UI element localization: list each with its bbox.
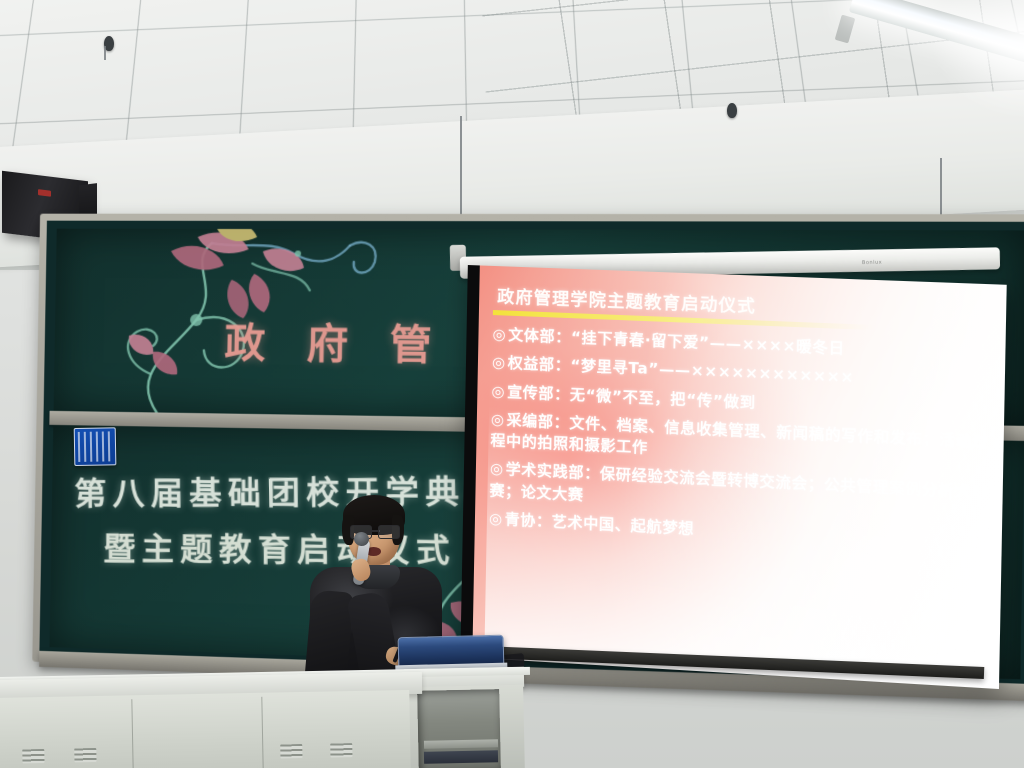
lectern-cabinet[interactable] (0, 690, 411, 768)
lecture-room-photo: 政 府 管 理 学 院 (0, 0, 1024, 768)
speaker-logo-icon (38, 189, 51, 197)
roller-brand-label: Bonlux (862, 260, 882, 266)
slide-bullet-text: 宣传部：无“微”不至，把“传”做到 (507, 382, 756, 411)
blue-notice-plaque (74, 427, 117, 466)
podium-equipment-panel (424, 750, 498, 764)
bullet-marker-icon: ◎ (490, 460, 504, 479)
bullet-marker-icon: ◎ (491, 382, 505, 401)
bullet-marker-icon: ◎ (492, 325, 506, 344)
podium-niche-shelf (424, 739, 498, 749)
slide-bullet-text: 文体部：“挂下青春·留下爱”——××××暖冬日 (508, 326, 845, 358)
cabinet-vent-icon (280, 744, 302, 758)
cabinet-vent-icon (330, 743, 352, 757)
glasses-lens-right (378, 525, 400, 539)
cabinet-door-seam[interactable] (261, 697, 263, 768)
presenter-laptop[interactable] (398, 635, 503, 672)
plaque-text (78, 431, 113, 462)
slide-bullet-list: ◎文体部：“挂下青春·留下爱”——××××暖冬日 ◎权益部：“梦里寻Ta”——×… (489, 324, 997, 563)
bullet-marker-icon: ◎ (489, 509, 503, 528)
projection-screen-assembly[interactable]: Bonlux 政府管理学院主题教育启动仪式 ◎文体部：“挂下青春·留下爱”——×… (448, 247, 1004, 689)
bullet-marker-icon: ◎ (491, 410, 505, 429)
cabinet-vent-icon (22, 749, 44, 763)
bullet-marker-icon: ◎ (492, 353, 506, 372)
ceiling-sensor-icon (727, 103, 737, 118)
projection-screen-surface: 政府管理学院主题教育启动仪式 ◎文体部：“挂下青春·留下爱”——××××暖冬日 … (460, 265, 1006, 689)
slide-bullet-text: 青协：艺术中国、起航梦想 (505, 510, 695, 538)
projected-slide: 政府管理学院主题教育启动仪式 ◎文体部：“挂下青春·留下爱”——××××暖冬日 … (472, 265, 1006, 689)
cabinet-vent-icon (74, 748, 96, 762)
hanging-wire (104, 46, 106, 60)
slide-bullet-text: 权益部：“梦里寻Ta”——×××××××××××× (508, 354, 855, 387)
cabinet-door-seam[interactable] (131, 699, 133, 768)
